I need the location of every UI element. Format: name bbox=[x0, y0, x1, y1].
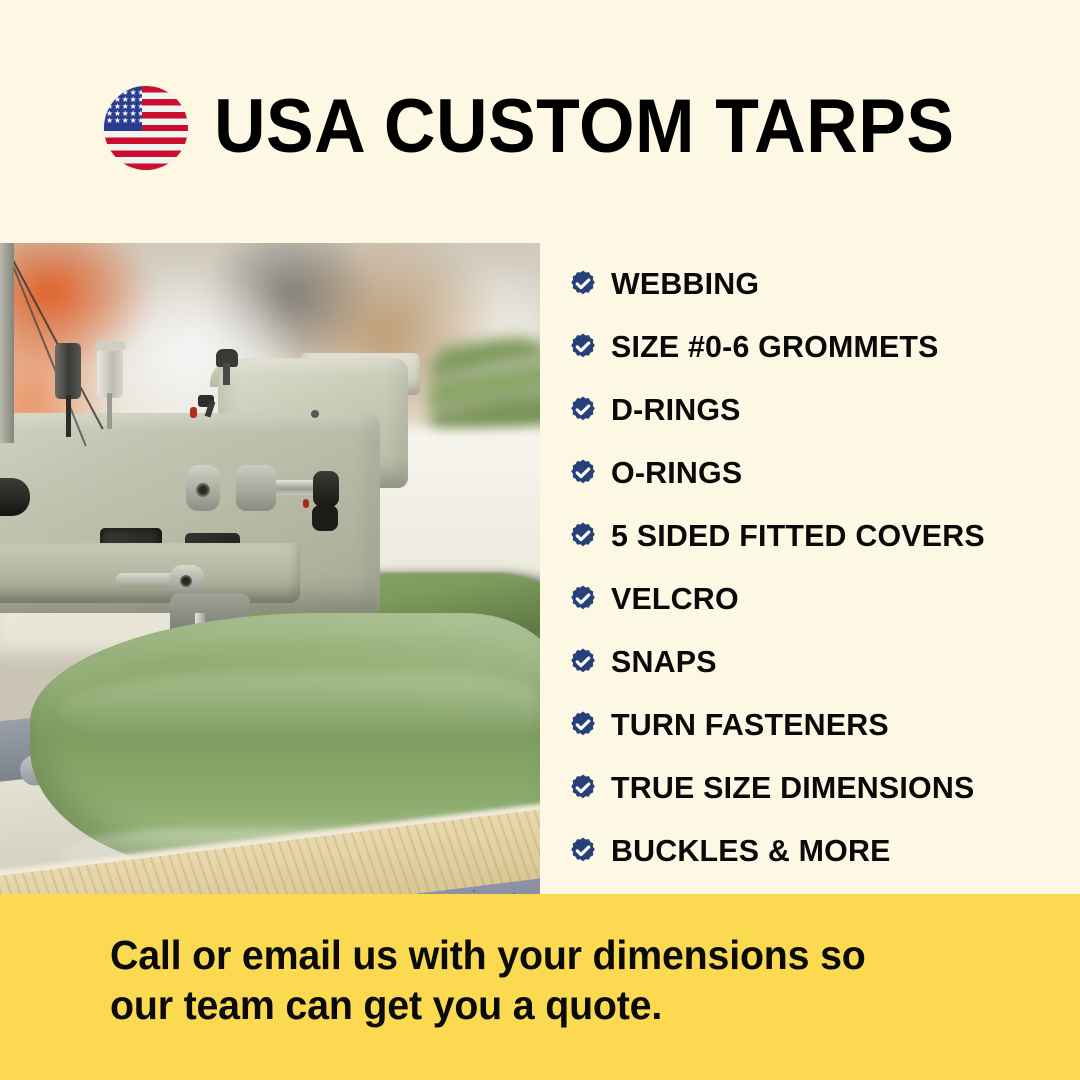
check-badge-icon bbox=[568, 332, 598, 362]
list-item: O-RINGS bbox=[568, 441, 1068, 504]
check-badge-icon bbox=[568, 269, 598, 299]
photo-screw-hole bbox=[311, 410, 319, 418]
list-item-label: SIZE #0-6 GROMMETS bbox=[611, 329, 939, 365]
photo-vertical-rod bbox=[0, 243, 14, 443]
feature-list: WEBBING SIZE #0-6 GROMMETS D-RINGS O-RIN… bbox=[568, 252, 1068, 882]
list-item: TURN FASTENERS bbox=[568, 693, 1068, 756]
list-item-label: 5 SIDED FITTED COVERS bbox=[611, 518, 985, 554]
photo-coupler-2 bbox=[236, 465, 276, 511]
check-badge-icon bbox=[568, 584, 598, 614]
list-item-label: D-RINGS bbox=[611, 392, 741, 428]
check-badge-icon bbox=[568, 395, 598, 425]
list-item-label: TRUE SIZE DIMENSIONS bbox=[611, 770, 974, 806]
list-item: TRUE SIZE DIMENSIONS bbox=[568, 756, 1068, 819]
check-badge-icon bbox=[568, 773, 598, 803]
list-item-label: WEBBING bbox=[611, 266, 759, 302]
call-to-action-text: Call or email us with your dimensions so… bbox=[110, 930, 936, 1030]
list-item: WEBBING bbox=[568, 252, 1068, 315]
photo-coupler-1-hub bbox=[196, 483, 210, 497]
photo-red-marker-3 bbox=[303, 499, 309, 508]
photo-red-marker-1 bbox=[190, 407, 197, 418]
check-badge-icon bbox=[568, 458, 598, 488]
list-item: SNAPS bbox=[568, 630, 1068, 693]
photo-top-knob-stem bbox=[223, 363, 230, 385]
list-item: VELCRO bbox=[568, 567, 1068, 630]
check-badge-icon bbox=[568, 521, 598, 551]
list-item: D-RINGS bbox=[568, 378, 1068, 441]
list-item-label: BUCKLES & MORE bbox=[611, 833, 891, 869]
photo-fabric-highlight-fold bbox=[60, 673, 540, 743]
photo-spool-light-pin bbox=[107, 393, 112, 429]
photo-spool-dark bbox=[55, 343, 81, 399]
sewing-machine-photo bbox=[0, 243, 540, 894]
photo-spool-light-cap bbox=[95, 341, 126, 351]
photo-spool-light bbox=[97, 348, 123, 398]
photo-black-collar bbox=[313, 471, 339, 507]
photo-black-collar-2 bbox=[312, 505, 338, 531]
page-title: USA CUSTOM TARPS bbox=[214, 83, 954, 170]
list-item-label: VELCRO bbox=[611, 581, 739, 617]
check-badge-icon bbox=[568, 836, 598, 866]
call-to-action-banner: Call or email us with your dimensions so… bbox=[0, 894, 1080, 1080]
flag-stars: ★★★★★★ ★★★★★★ ★★★★★★ ★★★★★★ ★★★★★★ bbox=[104, 86, 142, 131]
list-item: BUCKLES & MORE bbox=[568, 819, 1068, 882]
usa-flag-circle-icon: ★★★★★★ ★★★★★★ ★★★★★★ ★★★★★★ ★★★★★★ bbox=[104, 86, 188, 170]
list-item: SIZE #0-6 GROMMETS bbox=[568, 315, 1068, 378]
check-badge-icon bbox=[568, 647, 598, 677]
list-item: 5 SIDED FITTED COVERS bbox=[568, 504, 1068, 567]
photo-spool-dark-pin bbox=[66, 395, 71, 437]
photo-small-rod-hub bbox=[180, 575, 192, 587]
poster-header: ★★★★★★ ★★★★★★ ★★★★★★ ★★★★★★ ★★★★★★ USA C… bbox=[0, 0, 1080, 243]
promo-poster: ★★★★★★ ★★★★★★ ★★★★★★ ★★★★★★ ★★★★★★ USA C… bbox=[0, 0, 1080, 1080]
check-badge-icon bbox=[568, 710, 598, 740]
list-item-label: TURN FASTENERS bbox=[611, 707, 889, 743]
list-item-label: SNAPS bbox=[611, 644, 717, 680]
list-item-label: O-RINGS bbox=[611, 455, 742, 491]
